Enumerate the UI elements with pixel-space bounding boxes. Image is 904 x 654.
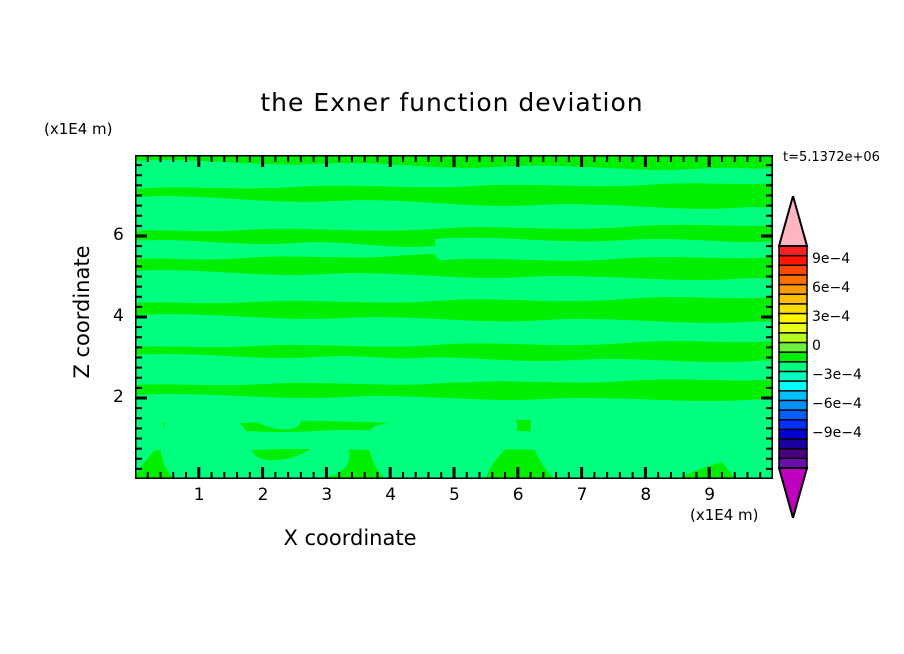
x-tick-label: 2	[258, 485, 269, 505]
y-axis-unit-label: (x1E4 m)	[44, 120, 113, 138]
y-tick-label: 6	[113, 225, 124, 245]
colorbar-band	[779, 333, 807, 343]
x-axis-unit-label: (x1E4 m)	[690, 506, 759, 524]
colorbar-tick-label: 9e−4	[812, 251, 850, 267]
colorbar-band	[779, 449, 807, 459]
colorbar-band	[779, 304, 807, 314]
colorbar-band	[779, 439, 807, 449]
colorbar-band	[779, 410, 807, 420]
colorbar-tick-label: −6e−4	[812, 396, 862, 412]
colorbar-band	[779, 246, 807, 256]
colorbar[interactable]	[778, 196, 810, 518]
colorbar-band	[779, 352, 807, 362]
x-axis-title: X coordinate	[0, 526, 700, 550]
x-tick-label: 6	[513, 485, 524, 505]
x-tick-label: 7	[577, 485, 588, 505]
x-tick-label: 3	[321, 485, 332, 505]
colorbar-svg[interactable]	[778, 196, 810, 518]
colorbar-band	[779, 429, 807, 439]
x-tick-label: 9	[704, 485, 715, 505]
x-tick-label: 8	[640, 485, 651, 505]
colorbar-band	[779, 362, 807, 372]
colorbar-band	[779, 256, 807, 266]
y-axis-title: Z coordinate	[70, 222, 94, 402]
colorbar-band	[779, 391, 807, 401]
x-tick-label: 4	[385, 485, 396, 505]
x-tick-label: 1	[194, 485, 205, 505]
contour-plot-area	[135, 155, 773, 479]
colorbar-band	[779, 381, 807, 391]
colorbar-under-arrow	[779, 468, 807, 518]
colorbar-band	[779, 265, 807, 275]
colorbar-over-arrow	[779, 196, 807, 246]
timestamp-annotation: t=5.1372e+06	[783, 150, 880, 165]
colorbar-band	[779, 323, 807, 333]
colorbar-tick-label: 0	[812, 338, 821, 354]
y-tick-label: 2	[113, 387, 124, 407]
colorbar-band	[779, 275, 807, 285]
colorbar-band	[779, 420, 807, 430]
colorbar-band	[779, 294, 807, 304]
colorbar-band	[779, 400, 807, 410]
page-title: the Exner function deviation	[0, 88, 904, 117]
contour-field-svg	[135, 155, 773, 479]
colorbar-tick-label: 6e−4	[812, 280, 850, 296]
y-tick-label: 4	[113, 306, 124, 326]
colorbar-band	[779, 285, 807, 295]
colorbar-band	[779, 343, 807, 353]
x-tick-label: 5	[449, 485, 460, 505]
colorbar-band	[779, 458, 807, 468]
colorbar-band	[779, 314, 807, 324]
colorbar-tick-label: −9e−4	[812, 425, 862, 441]
colorbar-tick-label: −3e−4	[812, 367, 862, 383]
colorbar-tick-label: 3e−4	[812, 309, 850, 325]
colorbar-band	[779, 371, 807, 381]
